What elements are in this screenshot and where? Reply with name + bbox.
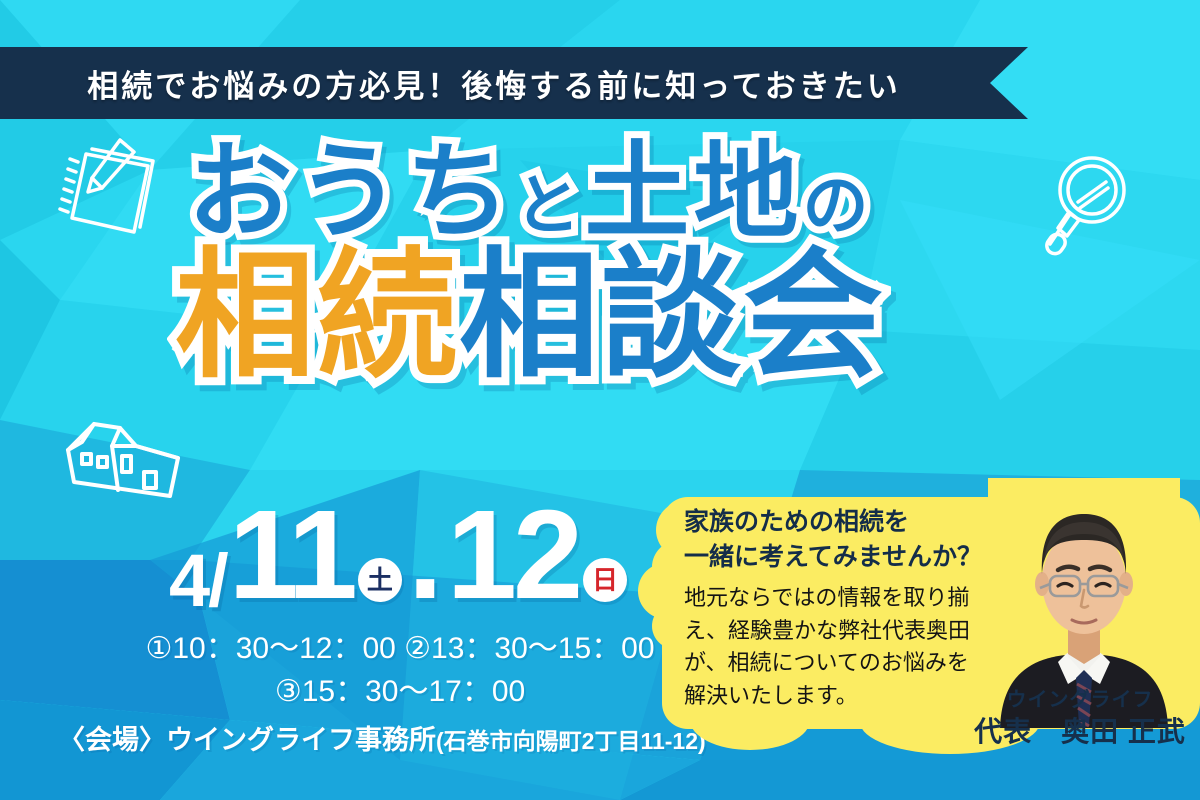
- time-slots-row-2: ③15：30〜17：00: [120, 671, 680, 714]
- venue-line: 〈会場〉ウイングライフ事務所(石巻市向陽町2丁目11-12): [58, 718, 758, 757]
- ribbon-headline: 相続でお悩みの方必見！後悔する前に知っておきたい: [87, 61, 901, 106]
- presenter-caption: ウイングライフ 代表 奥田 正武: [960, 688, 1200, 749]
- date-separator: .: [408, 492, 443, 618]
- headline-block: おうちと土地の 相続相談会: [0, 138, 1060, 389]
- seminar-poster: 相続でお悩みの方必見！後悔する前に知っておきたい おうちと土地の 相続相談会 4…: [0, 0, 1200, 800]
- weekday-badge-sunday: 日: [583, 558, 627, 602]
- date-day-1: 11: [229, 492, 354, 618]
- bubble-title-line-1: 家族のための相続を: [684, 505, 984, 540]
- headline-to: と: [515, 168, 585, 242]
- venue-name: 〈会場〉ウイングライフ事務所: [58, 725, 436, 755]
- headline-line-2: 相続相談会: [0, 242, 1060, 389]
- time-slots-row-1: ①10：30〜12：00 ②13：30〜15：00: [145, 632, 654, 665]
- date-month: 4/: [169, 544, 227, 618]
- headline-no: の: [803, 168, 873, 242]
- weekday-badge-saturday: 土: [358, 558, 402, 602]
- bubble-title-line-2: 一緒に考えてみませんか？: [684, 540, 984, 575]
- headline-souzoku: 相続: [175, 237, 459, 394]
- date-day-2: 12: [447, 492, 579, 618]
- headline-line-1: おうちと土地の: [0, 138, 1060, 248]
- headline-soudankai: 相談会: [459, 237, 885, 394]
- presenter-company: ウイングライフ: [960, 688, 1200, 712]
- headline-tochi: 土地: [585, 134, 803, 251]
- bubble-title: 家族のための相続を 一緒に考えてみませんか？: [684, 505, 984, 574]
- bubble-content: 家族のための相続を 一緒に考えてみませんか？ 地元ならではの情報を取り揃え、経験…: [684, 505, 984, 712]
- date-block: 4/ 11 土 . 12 日 ①10：30〜12：00 ②13：30〜15：00…: [120, 492, 680, 713]
- presenter-name: 代表 奥田 正武: [960, 714, 1200, 749]
- venue-address: (石巻市向陽町2丁目11-12): [436, 728, 706, 754]
- date-row: 4/ 11 土 . 12 日: [120, 492, 680, 618]
- headline-ouchi: おうち: [187, 134, 514, 251]
- bubble-body-text: 地元ならではの情報を取り揃え、経験豊かな弊社代表奥田が、相続についてのお悩みを解…: [684, 582, 984, 712]
- time-slots: ①10：30〜12：00 ②13：30〜15：00 ③15：30〜17：00: [120, 628, 680, 713]
- top-ribbon: 相続でお悩みの方必見！後悔する前に知っておきたい: [0, 47, 1028, 119]
